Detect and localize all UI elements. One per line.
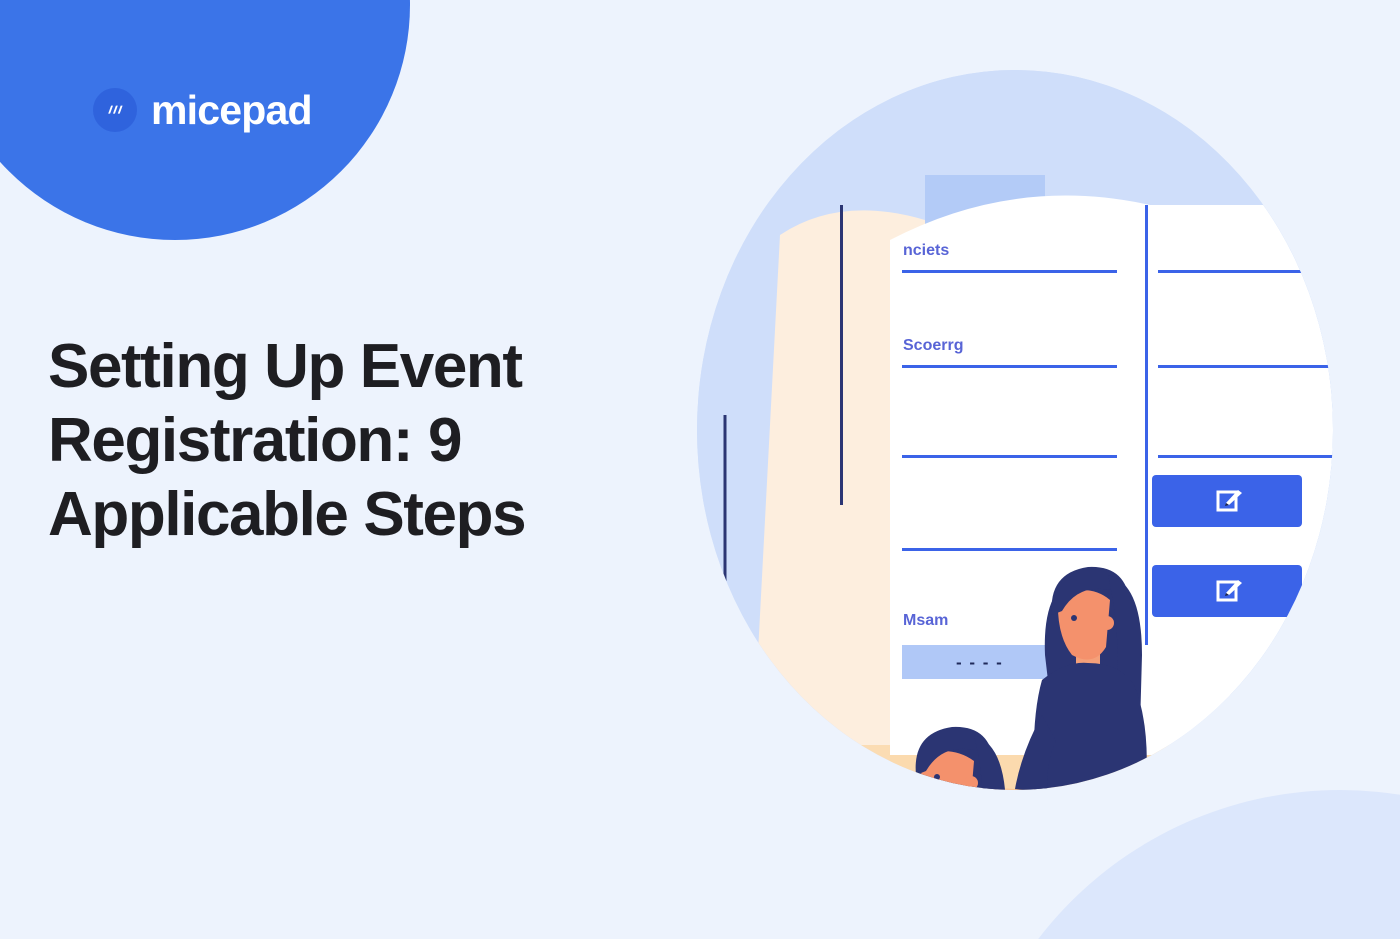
brand-logo[interactable]: micepad — [93, 88, 312, 132]
blog-cover-banner: micepad Setting Up Event Registration: 9… — [0, 0, 1400, 939]
form-label-bottom: Msam — [903, 612, 948, 629]
masked-input-value: - - - - — [956, 653, 1003, 672]
form-rule — [1158, 270, 1340, 273]
seated-woman-right-tablet — [1090, 797, 1340, 805]
form-divider — [1145, 205, 1148, 645]
masked-input-field: - - - - — [902, 645, 1057, 679]
micepad-mark-icon — [93, 88, 137, 132]
hero-illustration: nciets Scoerrg Msam - - - - — [690, 55, 1340, 805]
wall-accent-line-3 — [725, 715, 795, 755]
form-rule — [1158, 455, 1340, 458]
form-rule — [902, 270, 1117, 273]
form-rule — [902, 455, 1117, 458]
brand-name: micepad — [151, 90, 312, 131]
edit-button-1 — [1152, 475, 1302, 527]
form-label-top: nciets — [903, 242, 949, 259]
page-title: Setting Up Event Registration: 9 Applica… — [48, 330, 648, 552]
form-rule — [902, 548, 1117, 551]
form-label-middle: Scoerrg — [903, 337, 963, 354]
wall-accent-line-1 — [840, 205, 843, 505]
form-rule — [902, 365, 1117, 368]
decorative-circle-bottom-right — [960, 790, 1400, 939]
edit-button-2 — [1152, 565, 1302, 617]
form-rule — [1158, 365, 1340, 368]
